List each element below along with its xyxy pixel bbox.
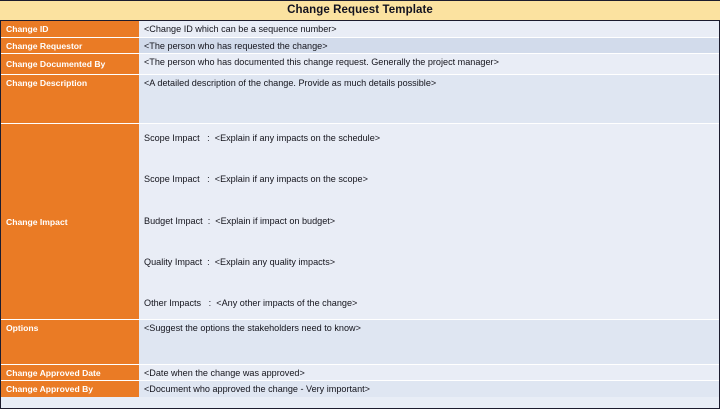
field-label-change-approved-date: Change Approved Date [1,365,139,381]
impact-line-other: Other Impacts : <Any other impacts of th… [144,298,719,309]
field-label-change-requestor: Change Requestor [1,38,139,54]
table-row: Change Documented By <The person who has… [1,54,719,75]
table-row: Change Requestor <The person who has req… [1,38,719,54]
table-row: Change Approved By <Document who approve… [1,381,719,397]
field-label-change-approved-by: Change Approved By [1,381,139,397]
field-value-change-approved-by[interactable]: <Document who approved the change - Very… [139,381,719,397]
field-label-change-impact: Change Impact [1,124,139,320]
impact-line-quality: Quality Impact : <Explain any quality im… [144,257,719,268]
field-value-change-id[interactable]: <Change ID which can be a sequence numbe… [139,21,719,38]
page-title: Change Request Template [287,5,433,17]
field-value-change-requestor[interactable]: <The person who has requested the change… [139,38,719,54]
change-request-table: Change ID <Change ID which can be a sequ… [0,21,720,409]
table-row: Options <Suggest the options the stakeho… [1,320,719,365]
field-value-change-description[interactable]: <A detailed description of the change. P… [139,75,719,124]
field-value-change-approved-date[interactable]: <Date when the change was approved> [139,365,719,381]
table-row: Change Description <A detailed descripti… [1,75,719,124]
impact-line-scope: Scope Impact : <Explain if any impacts o… [144,174,719,185]
field-value-change-documented-by[interactable]: <The person who has documented this chan… [139,54,719,75]
field-label-change-documented-by: Change Documented By [1,54,139,75]
field-label-options: Options [1,320,139,365]
table-row: Change Impact Scope Impact : <Explain if… [1,124,719,320]
field-label-change-description: Change Description [1,75,139,124]
table-row: Change ID <Change ID which can be a sequ… [1,21,719,38]
field-value-change-impact[interactable]: Scope Impact : <Explain if any impacts o… [139,124,719,320]
document-title-bar: Change Request Template [0,0,720,21]
field-value-options[interactable]: <Suggest the options the stakeholders ne… [139,320,719,365]
impact-line-budget: Budget Impact : <Explain if impact on bu… [144,216,719,227]
document-page: Change Request Template Change ID <Chang… [0,0,720,409]
field-label-change-id: Change ID [1,21,139,38]
impact-line-scope-schedule: Scope Impact : <Explain if any impacts o… [144,133,719,144]
table-row: Change Approved Date <Date when the chan… [1,365,719,381]
